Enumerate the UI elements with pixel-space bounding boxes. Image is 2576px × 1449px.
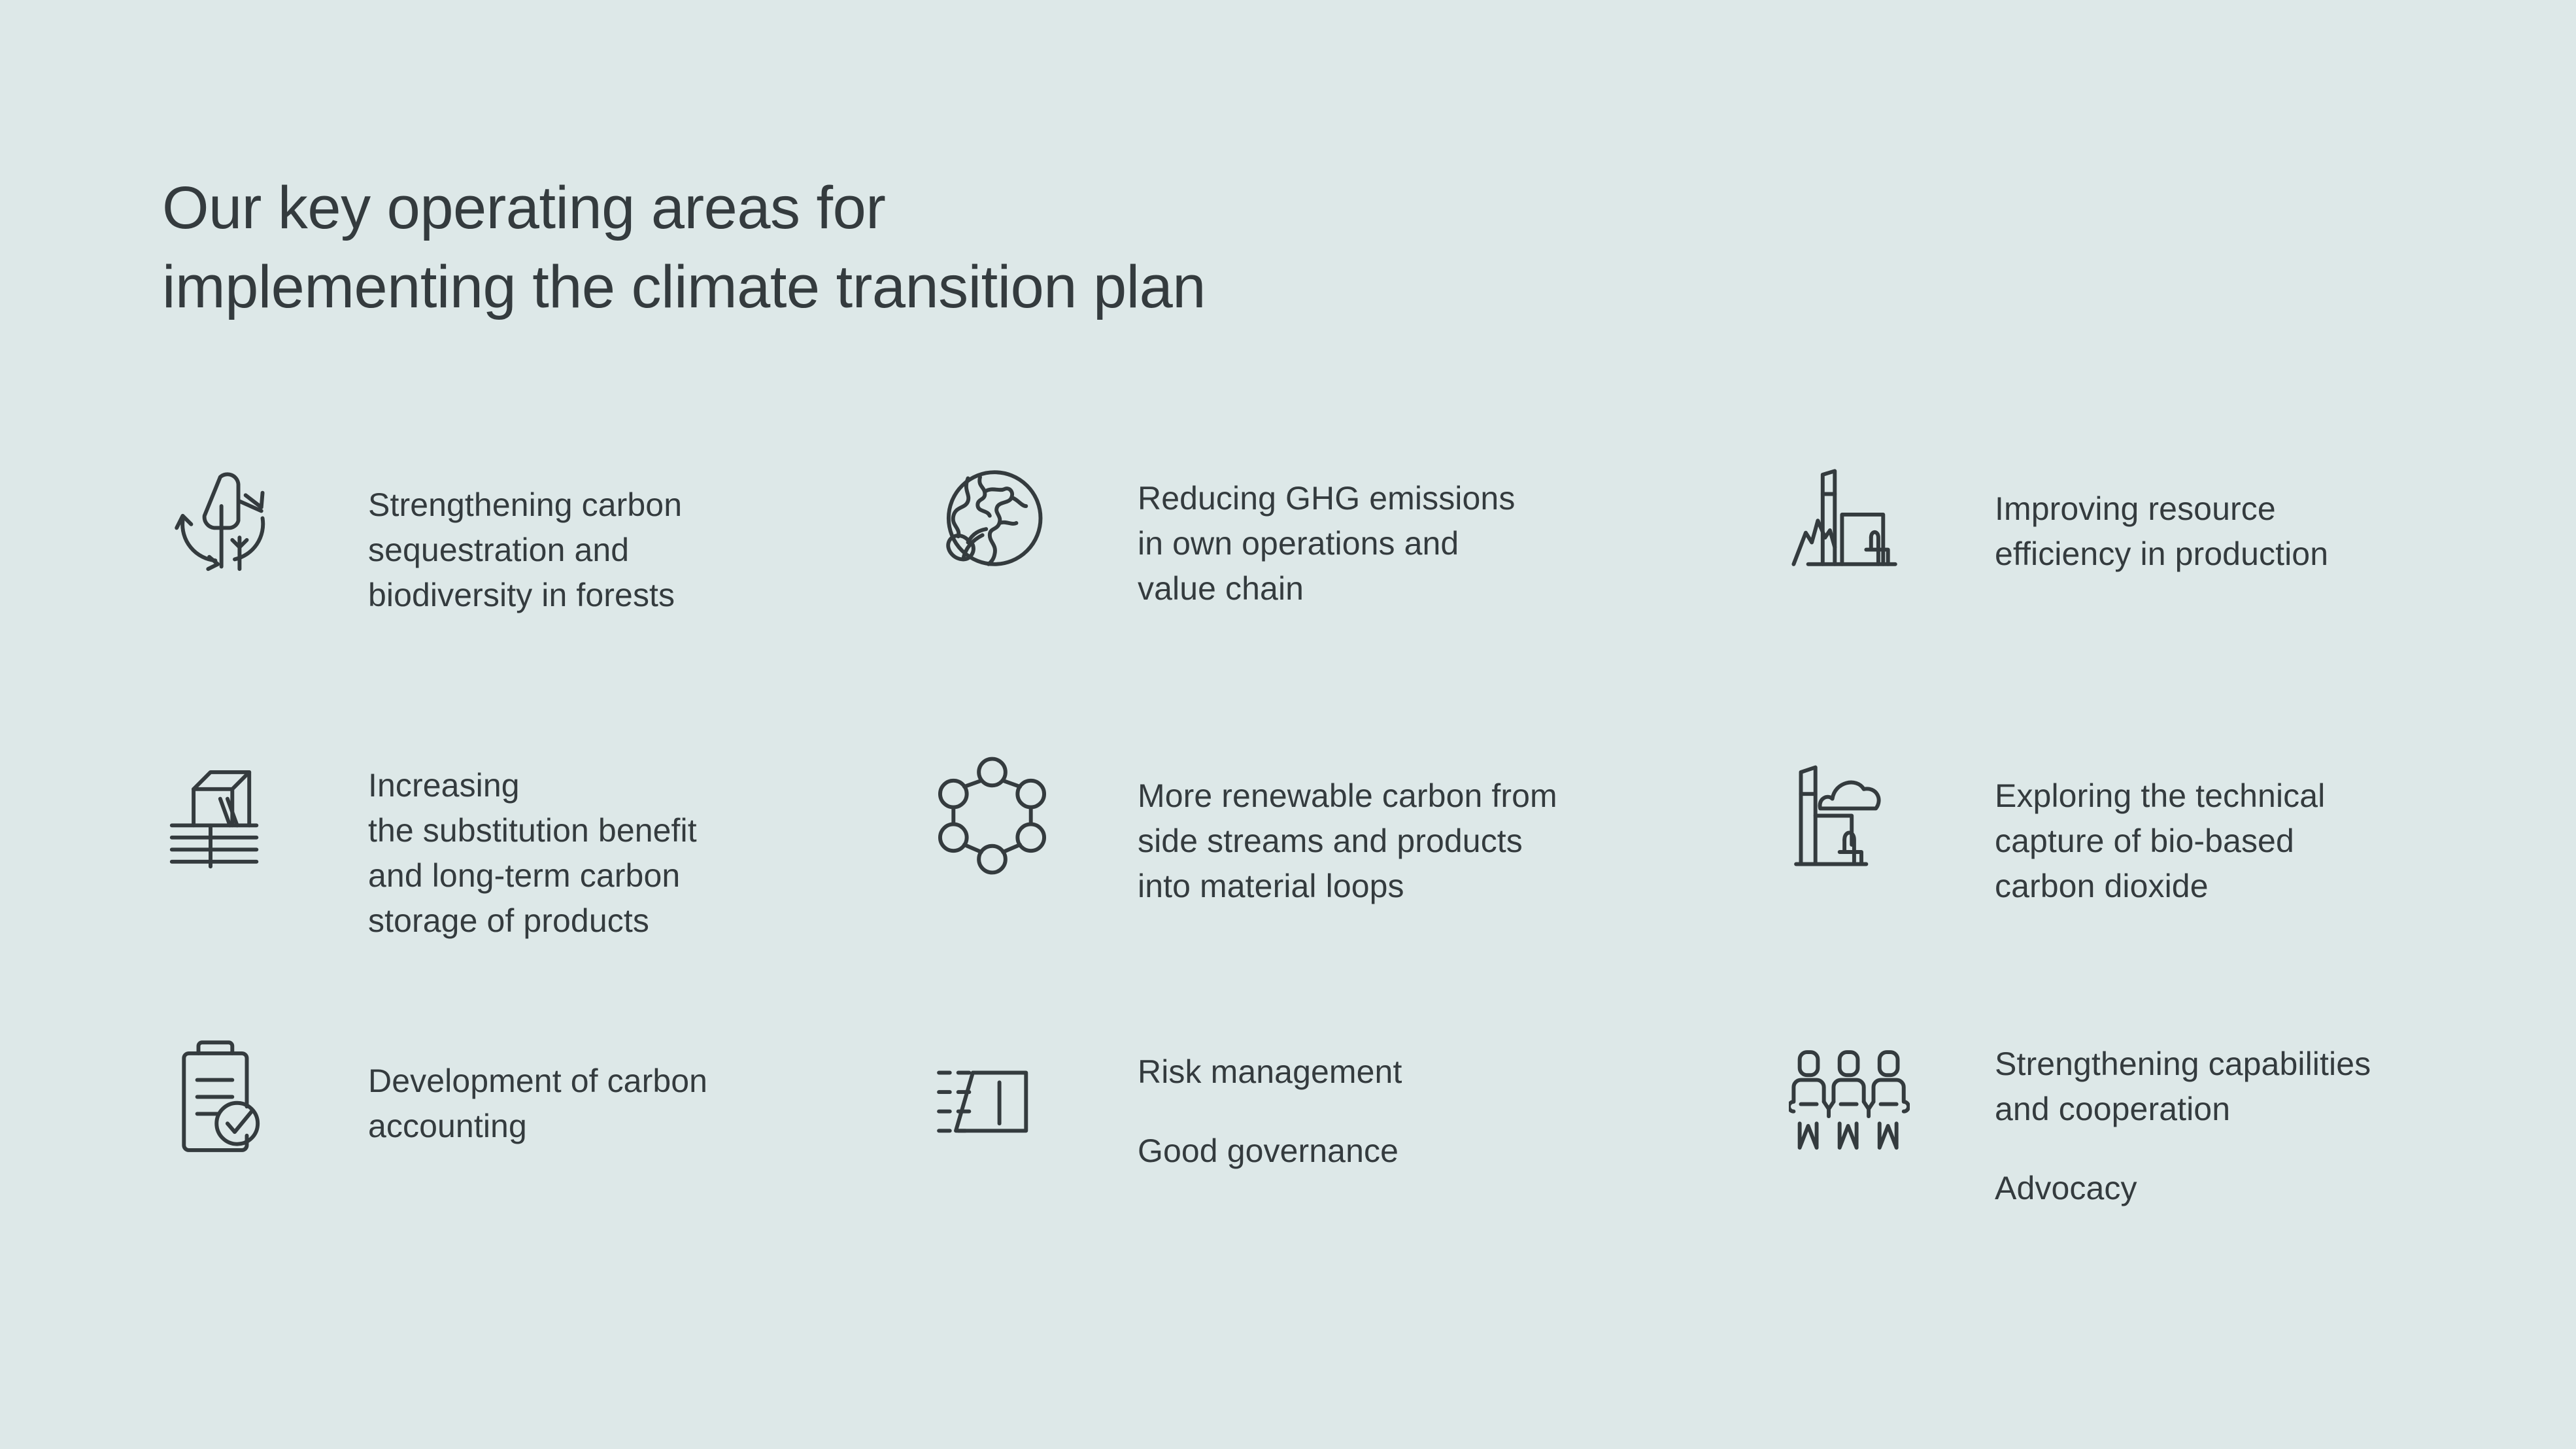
operating-area-item: Increasing the substitution benefit and … (162, 749, 930, 1030)
operating-area-label: Improving resource efficiency in product… (1995, 486, 2490, 577)
operating-area-item: Development of carbon accounting (162, 1030, 930, 1311)
globe-leaf-icon (932, 458, 1062, 588)
tree-carbon-cycle-icon (162, 458, 293, 588)
operating-area-label: Good governance (1138, 1129, 1784, 1174)
operating-areas-grid: Strengthening carbon sequestration and b… (162, 458, 2490, 1311)
operating-area-text-block: Exploring the technical capture of bio-b… (1920, 749, 2490, 909)
operating-area-text-block: More renewable carbon from side streams … (1062, 749, 1784, 909)
operating-area-item: Risk management Good governance (930, 1030, 1784, 1311)
operating-area-label: Strengthening carbon sequestration and b… (368, 483, 930, 618)
operating-area-label: Reducing GHG emissions in own operations… (1138, 476, 1784, 611)
clipboard-check-icon (162, 1036, 293, 1167)
operating-area-label: More renewable carbon from side streams … (1138, 774, 1784, 909)
operating-area-label: Risk management (1138, 1049, 1784, 1095)
operating-area-item: Improving resource efficiency in product… (1784, 458, 2490, 749)
operating-area-item: Strengthening carbon sequestration and b… (162, 458, 930, 749)
three-people-cooperation-icon (1789, 1036, 1920, 1167)
funnel-filter-icon (932, 1036, 1062, 1167)
operating-area-label: Development of carbon accounting (368, 1059, 930, 1149)
operating-area-text-block: Strengthening carbon sequestration and b… (293, 458, 930, 618)
operating-area-text-block: Reducing GHG emissions in own operations… (1062, 458, 1784, 611)
operating-area-item: Reducing GHG emissions in own operations… (930, 458, 1784, 749)
operating-area-text-block: Risk management Good governance (1062, 1030, 1784, 1174)
operating-area-text-block: Development of carbon accounting (293, 1030, 930, 1149)
three-people-cooperation-item: Strengthening capabilities and cooperati… (1784, 1030, 2490, 1311)
operating-area-text-block: Improving resource efficiency in product… (1920, 458, 2490, 577)
molecule-hexagon-icon (932, 755, 1062, 886)
operating-area-item: More renewable carbon from side streams … (930, 749, 1784, 1030)
operating-area-label: Increasing the substitution benefit and … (368, 763, 930, 944)
operating-area-text-block: Strengthening capabilities and cooperati… (1920, 1030, 2490, 1211)
operating-area-label: Advocacy (1995, 1166, 2490, 1211)
operating-area-label: Strengthening capabilities and cooperati… (1995, 1042, 2490, 1132)
factory-smoke-capture-icon (1789, 755, 1920, 886)
operating-area-label: Exploring the technical capture of bio-b… (1995, 774, 2490, 909)
wood-products-stack-icon (162, 755, 293, 886)
operating-area-item: Exploring the technical capture of bio-b… (1784, 749, 2490, 1030)
operating-area-text-block: Increasing the substitution benefit and … (293, 749, 930, 944)
factory-mountain-icon (1789, 458, 1920, 588)
page-title: Our key operating areas for implementing… (162, 169, 1862, 328)
